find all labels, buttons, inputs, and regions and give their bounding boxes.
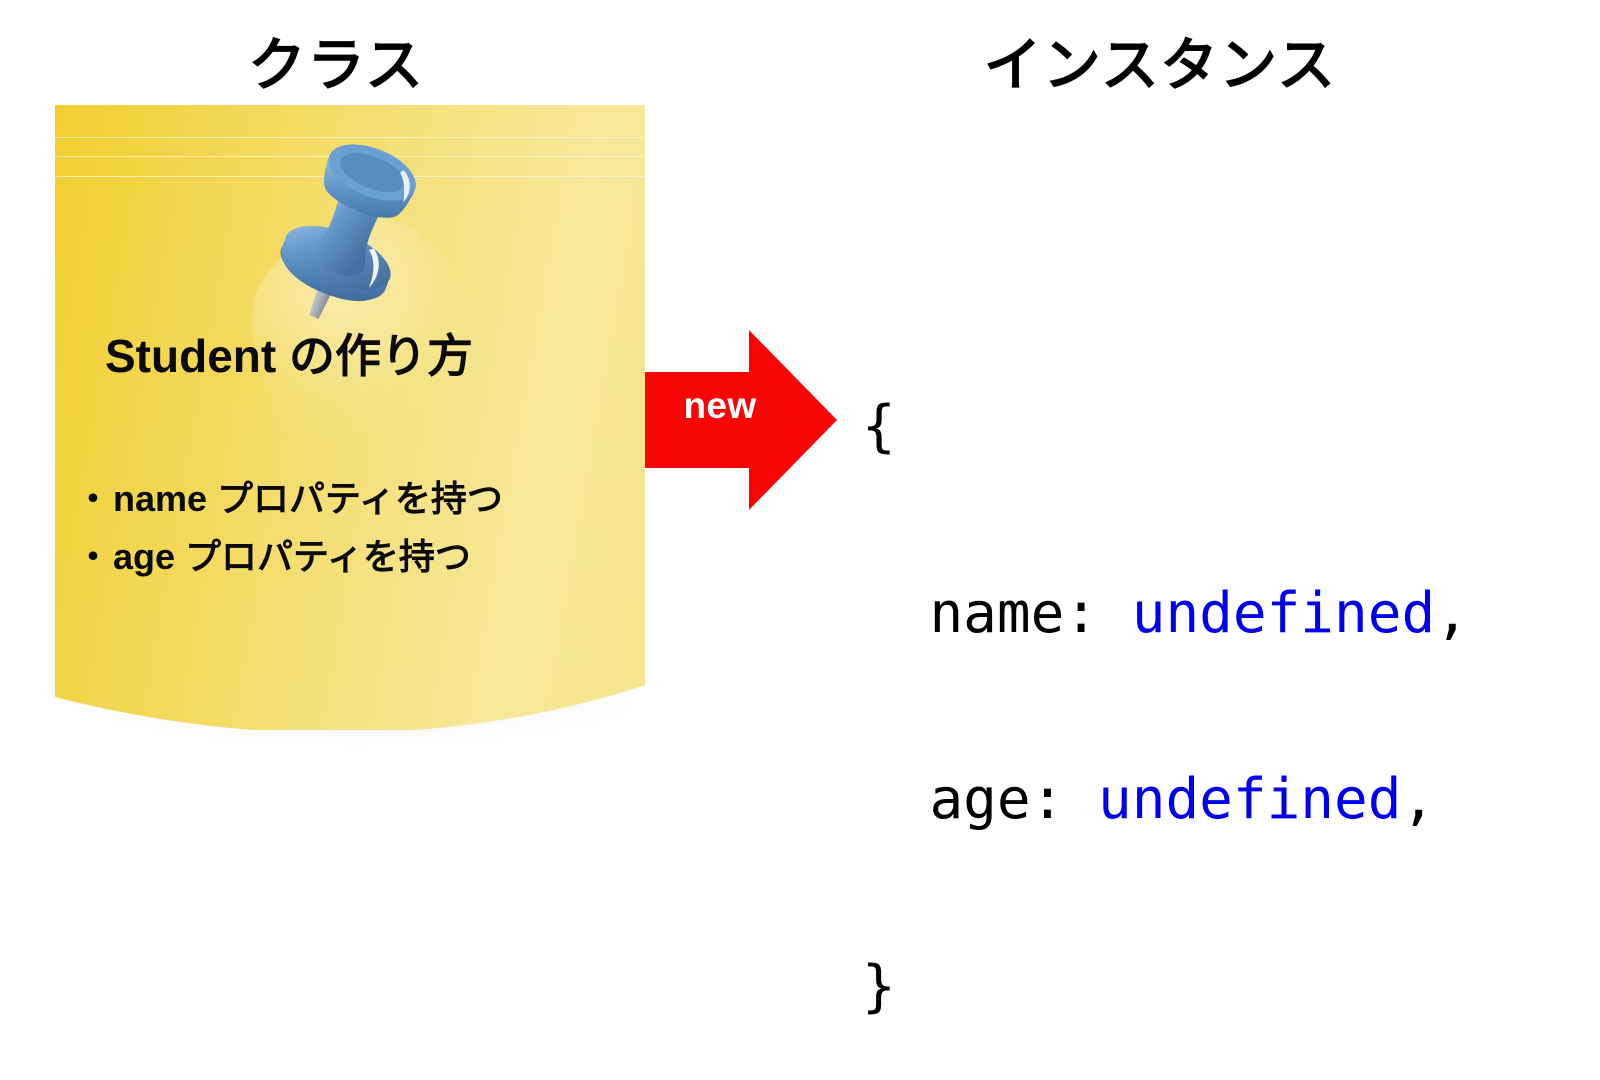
- new-arrow-label: new: [660, 385, 780, 427]
- sticky-note-paper: Student の作り方 ・ name プロパティを持つ ・ age プロパティ…: [55, 105, 645, 730]
- code-line-close-brace: }: [862, 956, 1469, 1018]
- bullet-marker-icon: ・: [75, 528, 111, 586]
- push-pin-icon: [255, 110, 445, 340]
- code-value: undefined: [1132, 581, 1435, 646]
- class-sticky-note: Student の作り方 ・ name プロパティを持つ ・ age プロパティ…: [30, 95, 650, 775]
- note-bullet-label: name プロパティを持つ: [113, 470, 503, 528]
- code-line-open-brace: {: [862, 396, 1469, 458]
- note-heading: Student の作り方: [105, 320, 605, 386]
- note-bullet-list: ・ name プロパティを持つ ・ age プロパティを持つ: [75, 470, 645, 587]
- note-bullet-item: ・ age プロパティを持つ: [75, 528, 645, 586]
- code-text: {: [862, 394, 896, 459]
- code-comma: ,: [1435, 581, 1469, 646]
- code-indent: [862, 581, 929, 646]
- instance-column-title: インスタンス: [830, 18, 1490, 102]
- code-key: name:: [929, 581, 1131, 646]
- instance-object-code: { name: undefined, age: undefined, }: [862, 272, 1469, 1080]
- code-line-name: name: undefined,: [862, 583, 1469, 645]
- code-line-age: age: undefined,: [862, 769, 1469, 831]
- bullet-marker-icon: ・: [75, 470, 111, 528]
- code-text: }: [862, 954, 896, 1019]
- note-bullet-item: ・ name プロパティを持つ: [75, 470, 645, 528]
- class-column-title: クラス: [0, 18, 672, 102]
- note-bullet-label: age プロパティを持つ: [113, 528, 471, 586]
